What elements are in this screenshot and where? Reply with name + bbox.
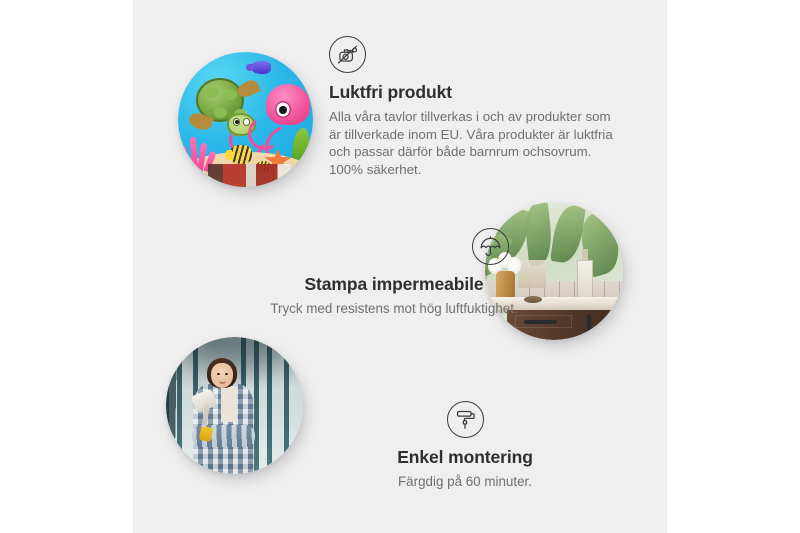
door-handle [587,314,591,332]
decorator-forest-circle[interactable] [166,337,303,474]
umbrella-icon [472,228,509,265]
inner-top [221,386,237,422]
feature-block-odourless: Luktfri produkt Alla våra tavlor tillver… [329,36,625,178]
eye [217,373,220,375]
yellow-fish-icon [229,145,252,164]
eye [225,373,228,375]
screenshot-canvas: Luktfri produkt Alla våra tavlor tillver… [0,0,800,533]
soap-dispenser [577,260,592,301]
paint-roller-icon [447,401,484,438]
face [211,363,233,388]
drawer-handle [524,320,556,324]
feature-description: Färgdig på 60 minuter. [329,473,601,491]
underwater-cartoon-circle[interactable] [178,52,313,187]
feature-description: Alla våra tavlor tillverkas i och av pro… [329,108,625,178]
smile [219,378,226,383]
feature-block-waterproof: Stampa impermeabile Tryck med resistens … [221,228,567,318]
no-perfume-icon [329,36,366,73]
wall-strip [208,164,292,187]
feature-block-easy-mounting: Enkel montering Färgdig på 60 minuter. [329,401,601,491]
feature-title: Enkel montering [329,447,601,468]
blue-fish-icon [251,61,271,73]
feature-title: Luktfri produkt [329,82,625,103]
feature-description: Tryck med resistens mot hög luftfuktighe… [221,300,567,318]
feature-panel: Luktfri produkt Alla våra tavlor tillver… [133,0,667,533]
feature-title: Stampa impermeabile [221,274,567,295]
